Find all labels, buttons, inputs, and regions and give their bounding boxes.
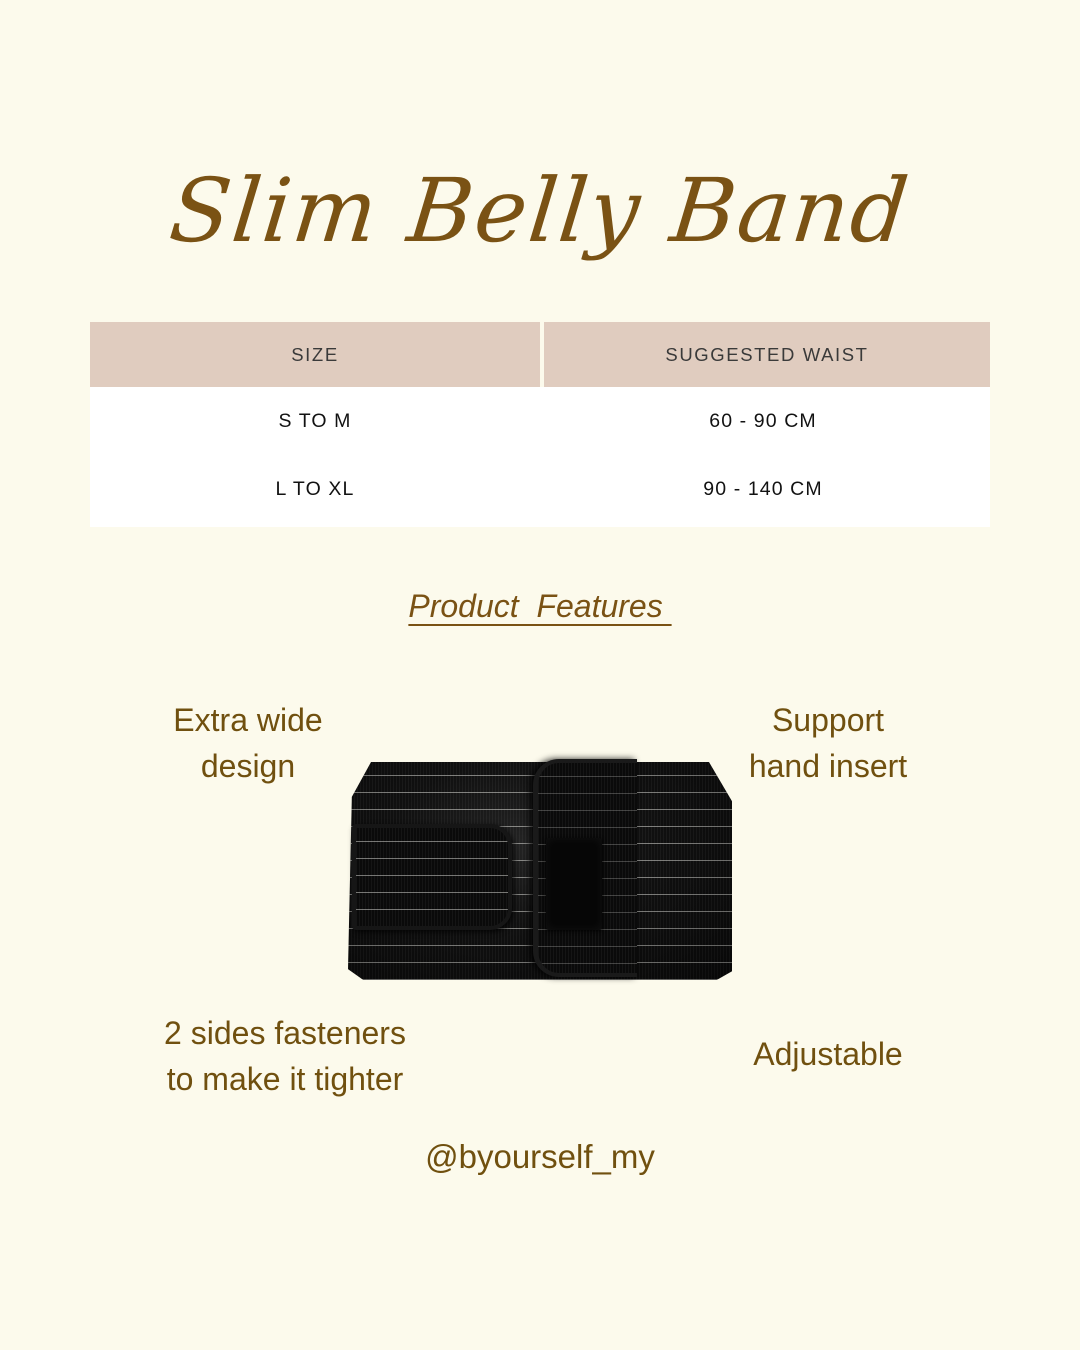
table-header-suggested-waist: SUGGESTED WAIST — [544, 322, 990, 387]
table-header-size: SIZE — [90, 322, 540, 387]
table-row: S TO M 60 - 90 CM — [90, 387, 990, 455]
size-chart-table: SIZE SUGGESTED WAIST S TO M 60 - 90 CM L… — [90, 322, 990, 527]
table-row: L TO XL 90 - 140 CM — [90, 455, 990, 523]
cell-waist: 90 - 140 CM — [540, 478, 986, 501]
table-header-row: SIZE SUGGESTED WAIST — [90, 322, 990, 387]
feature-label-support-hand-insert: Support hand insert — [700, 697, 956, 790]
social-handle: @byourself_my — [0, 1138, 1080, 1176]
product-image-belly-band — [348, 762, 732, 980]
cell-size: L TO XL — [90, 478, 540, 501]
feature-label-2-sides-fasteners: 2 sides fasteners to make it tighter — [130, 1010, 440, 1103]
table-body: S TO M 60 - 90 CM L TO XL 90 - 140 CM — [90, 387, 990, 527]
left-flap-rib-stripes — [356, 828, 508, 926]
feature-label-adjustable: Adjustable — [700, 1031, 956, 1077]
cell-size: S TO M — [90, 410, 540, 433]
velcro-patch — [546, 838, 602, 930]
product-features-heading: Product Features — [0, 588, 1080, 625]
band-left-flap — [352, 824, 512, 930]
page-title: Slim Belly Band — [0, 160, 1080, 261]
feature-label-extra-wide-design: Extra wide design — [120, 697, 376, 790]
cell-waist: 60 - 90 CM — [540, 410, 986, 433]
